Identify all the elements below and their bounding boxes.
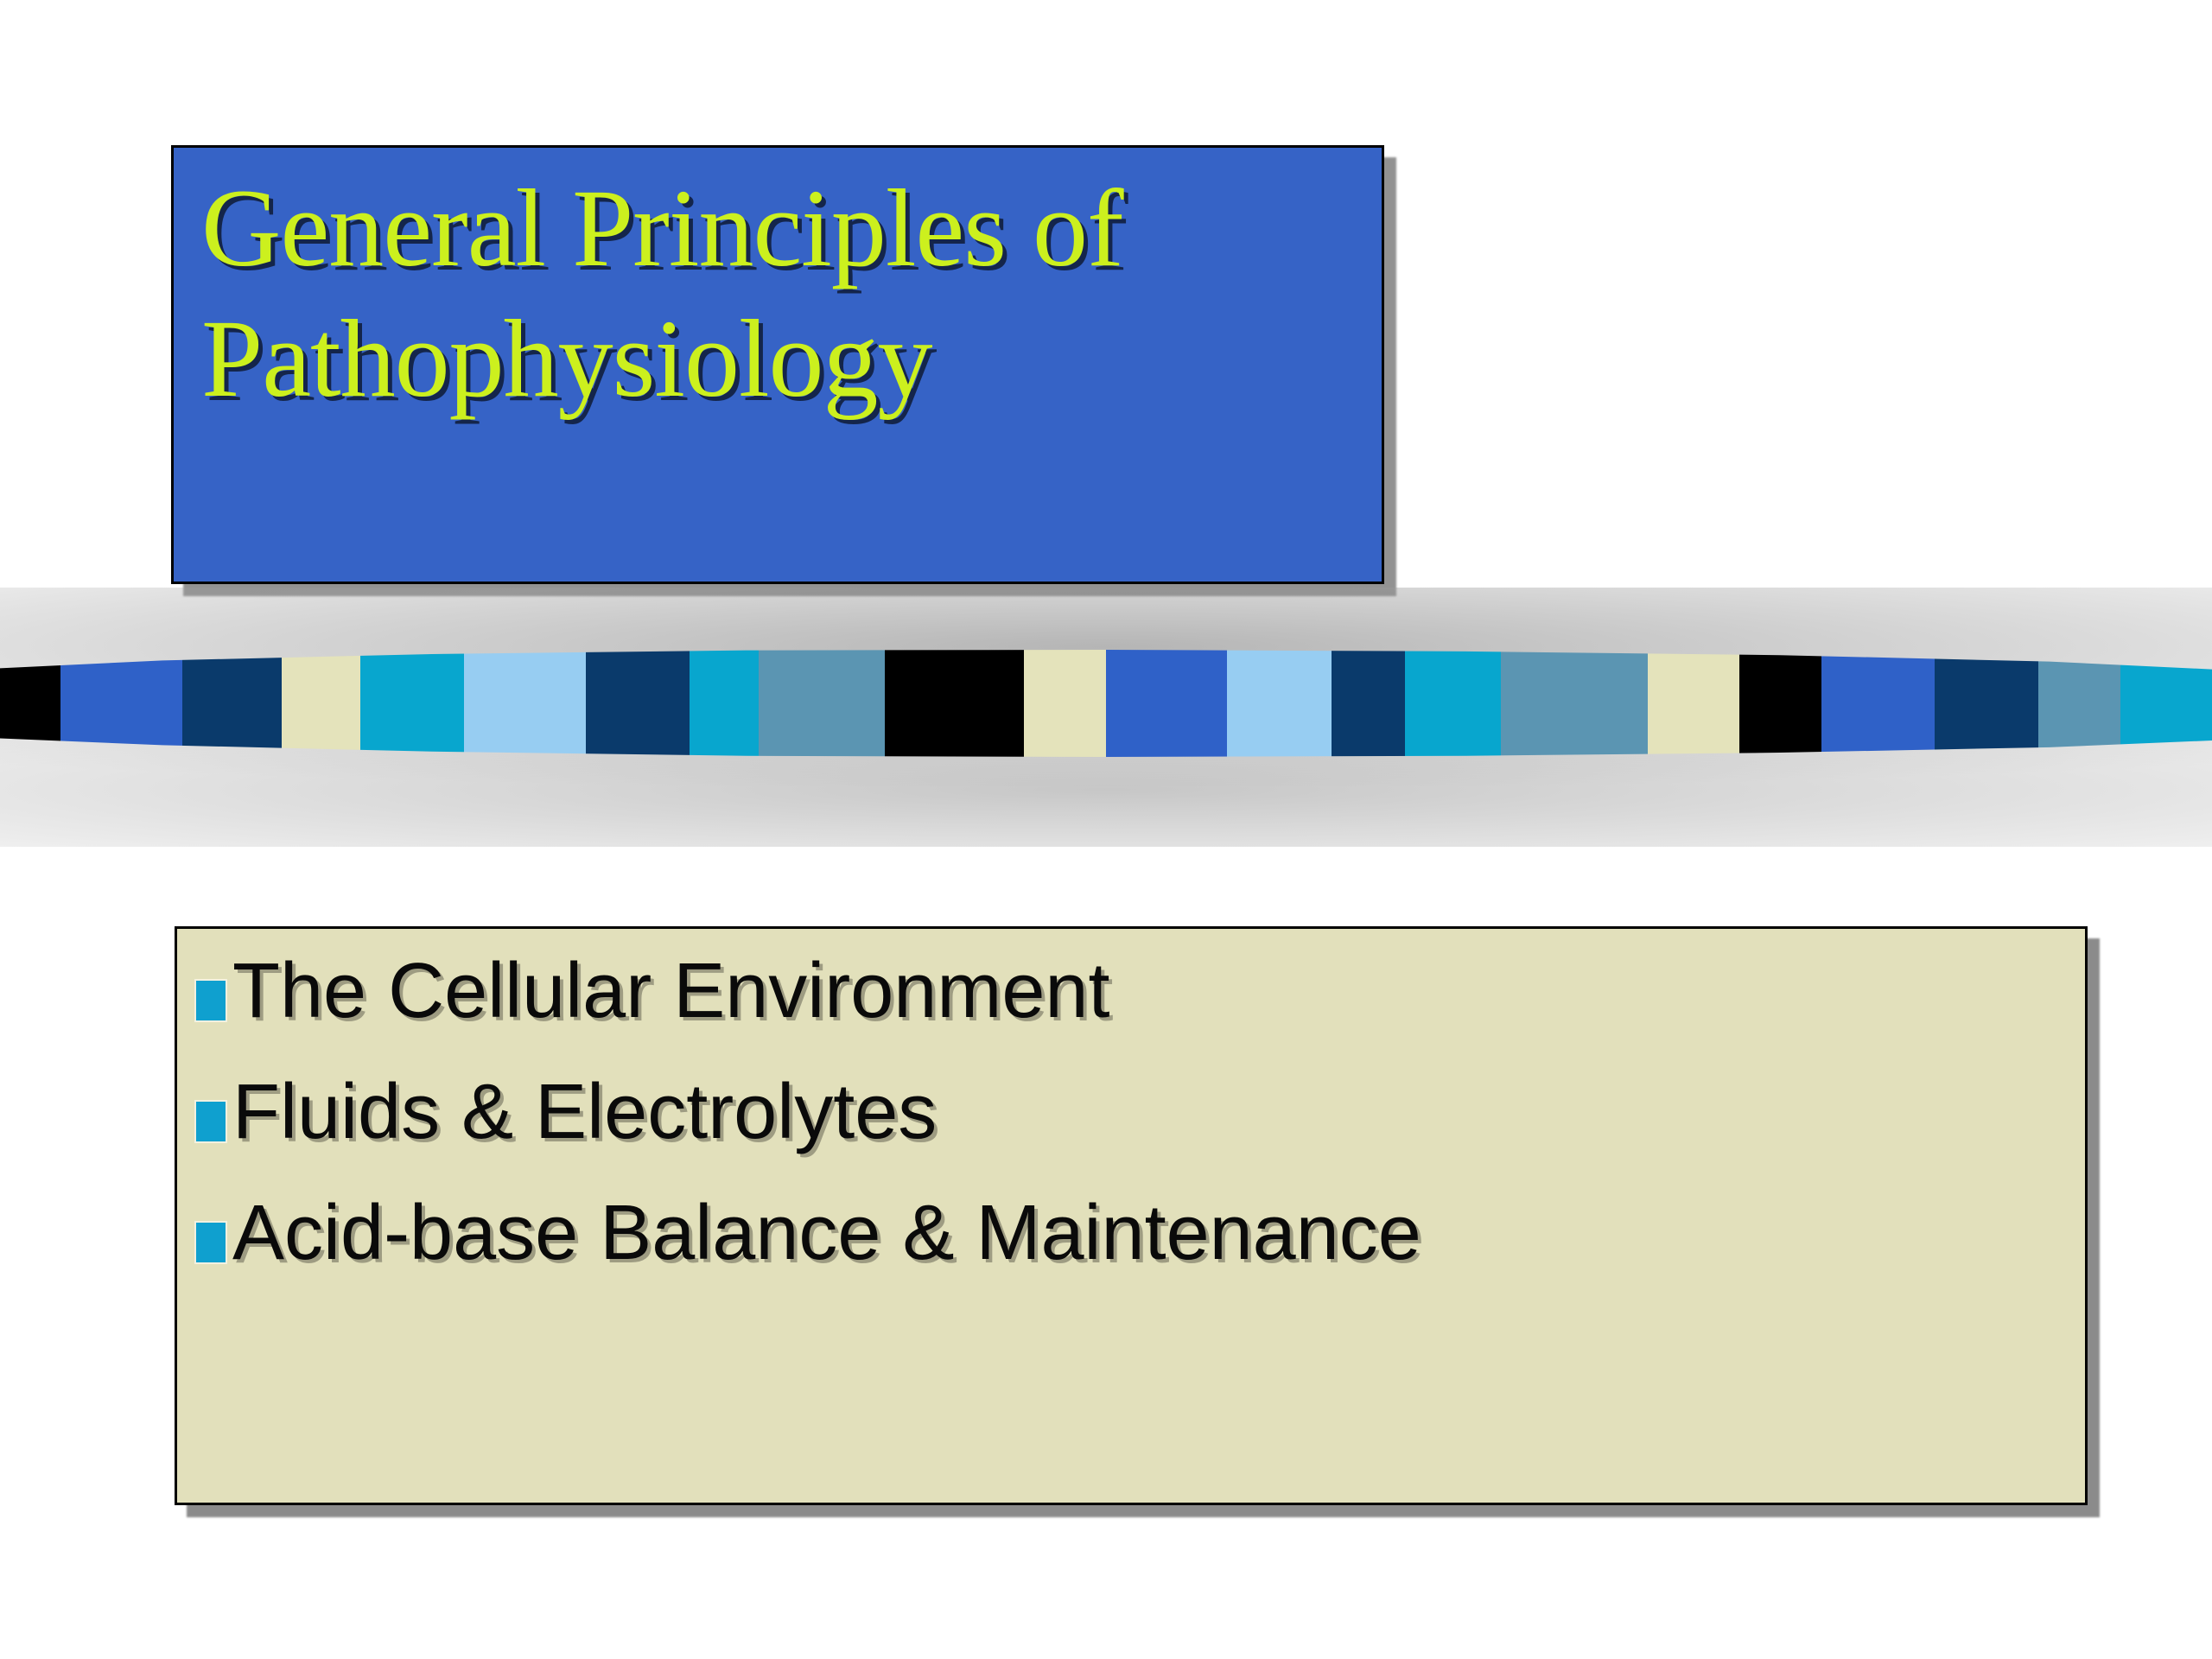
- list-item: Fluids & Electrolytes: [196, 1071, 2068, 1154]
- slide-canvas: General Principles of Pathophysiology Th…: [0, 0, 2212, 1659]
- list-item: The Cellular Environment: [196, 950, 2068, 1033]
- band-stripe: [1332, 650, 1405, 757]
- band-stripe: [1501, 650, 1649, 757]
- square-bullet-icon: [196, 1102, 226, 1141]
- page-title: General Principles of Pathophysiology: [201, 163, 1366, 424]
- square-bullet-icon: [196, 981, 226, 1020]
- band-stripe: [1821, 650, 1935, 757]
- square-bullet-icon: [196, 1223, 226, 1262]
- bullet-list: The Cellular Environment Fluids & Electr…: [196, 950, 2068, 1313]
- band-stripe: [1227, 650, 1331, 757]
- list-item: Acid-base Balance & Maintenance: [196, 1192, 2068, 1274]
- band-stripe: [1648, 650, 1738, 757]
- band-stripe: [282, 650, 359, 757]
- band-stripe: [690, 650, 759, 757]
- list-item-label: Acid-base Balance & Maintenance: [232, 1192, 1421, 1274]
- title-box: General Principles of Pathophysiology: [171, 145, 1384, 584]
- band-stripe: [1405, 650, 1500, 757]
- band-stripe: [1739, 650, 1821, 757]
- band-stripe: [759, 650, 885, 757]
- band-stripe: [1024, 650, 1106, 757]
- band-stripe: [1106, 650, 1228, 757]
- content-box: The Cellular Environment Fluids & Electr…: [175, 926, 2088, 1505]
- band-stripe: [360, 650, 464, 757]
- band-stripe: [182, 650, 282, 757]
- band-stripe: [586, 650, 690, 757]
- list-item-label: The Cellular Environment: [232, 950, 1109, 1033]
- band-stripe: [464, 650, 586, 757]
- band-stripes: [0, 650, 2212, 757]
- band-stripe: [2038, 650, 2120, 757]
- list-item-label: Fluids & Electrolytes: [232, 1071, 937, 1154]
- band-stripe: [60, 650, 182, 757]
- band-stripe: [1935, 650, 2038, 757]
- decorative-band: [0, 588, 2212, 847]
- band-stripe: [885, 650, 1024, 757]
